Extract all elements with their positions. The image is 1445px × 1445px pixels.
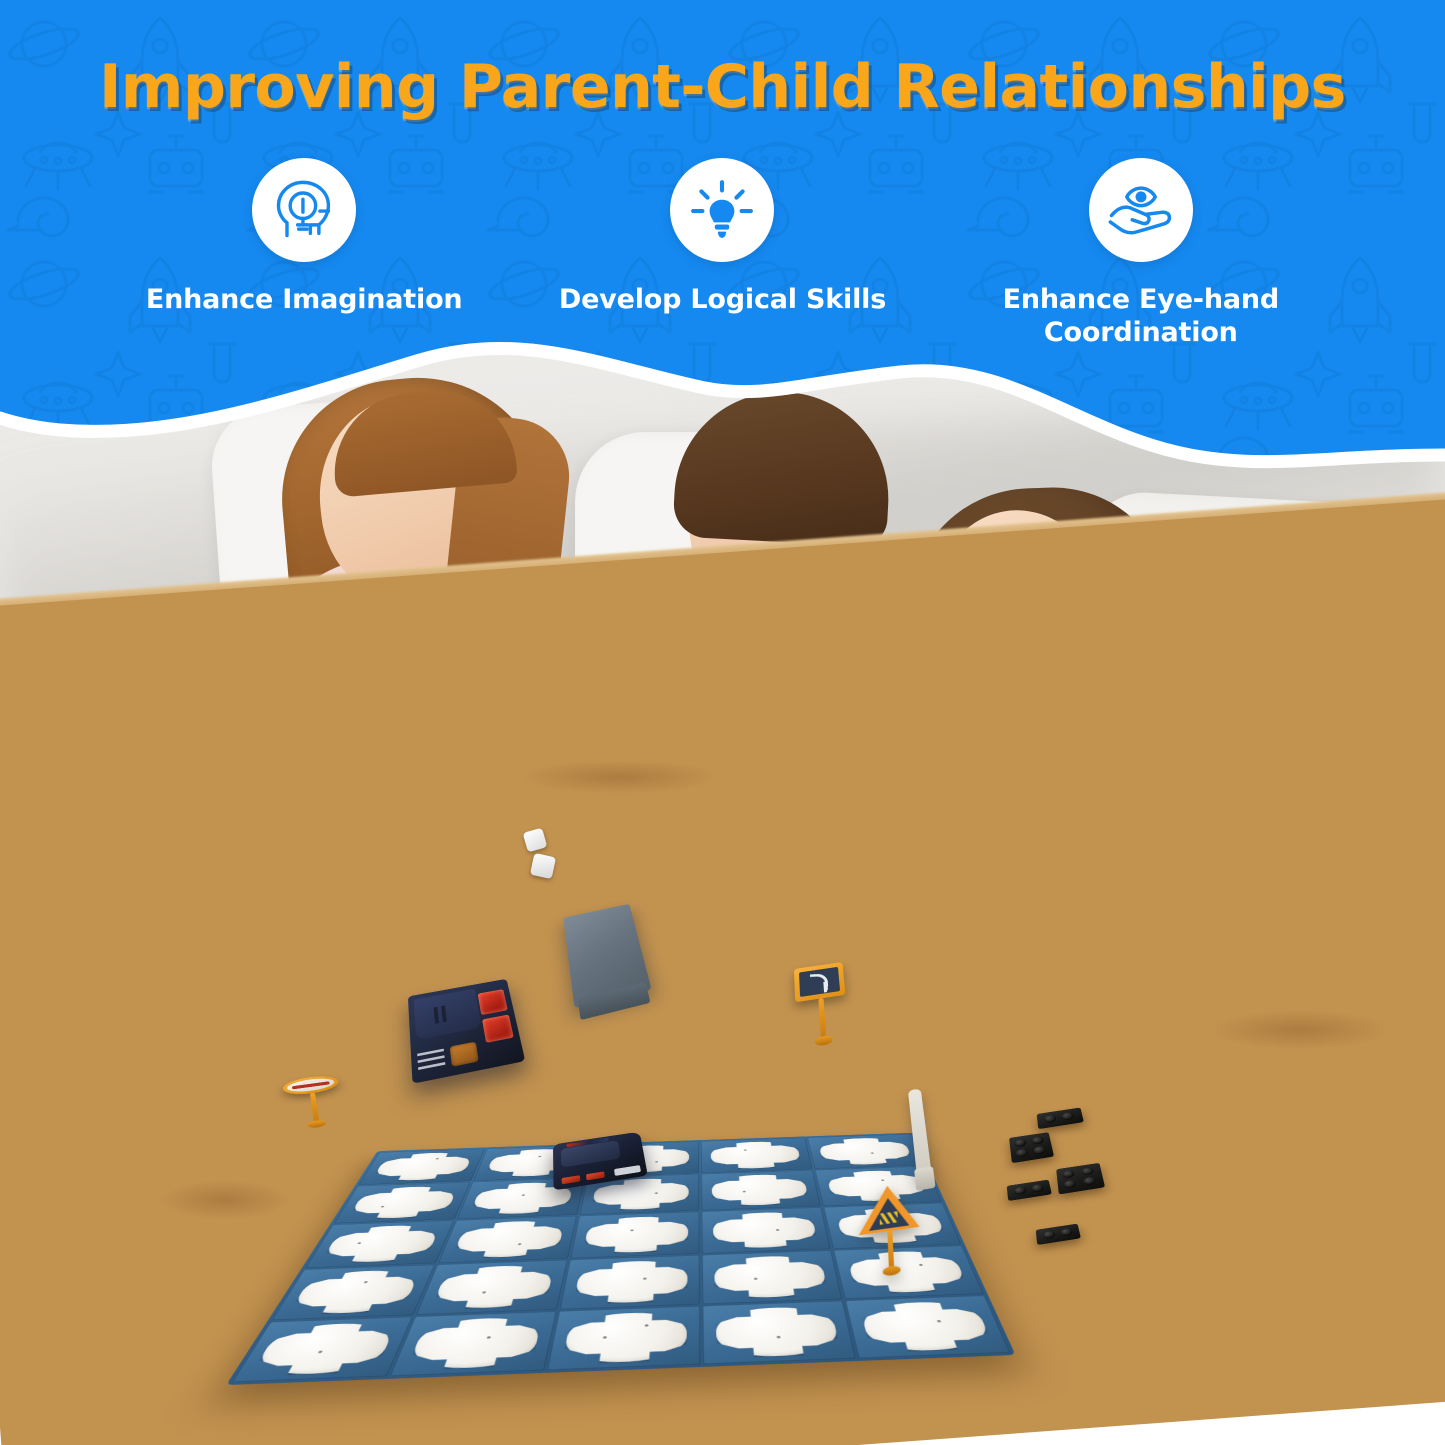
dice-piece (530, 853, 556, 879)
wood-knot (1210, 1010, 1390, 1050)
board-tile (807, 1134, 925, 1169)
board-tile (334, 1182, 471, 1223)
board-tile (570, 1212, 699, 1259)
warning-triangle-sign (858, 1182, 919, 1235)
board-tile (272, 1265, 435, 1320)
board-tile (833, 1246, 983, 1299)
board-tile (305, 1220, 454, 1268)
police-truck (408, 979, 525, 1084)
board-tile (701, 1138, 813, 1173)
feature-label: Enhance Imagination (146, 284, 463, 317)
ramp-piece (563, 904, 651, 1008)
no-entry-sign (283, 1074, 340, 1097)
feature-label: Enhance Eye-hand Coordination (1003, 284, 1279, 350)
lightbulb-rays-icon (670, 158, 774, 262)
board-tile (703, 1301, 856, 1364)
board-tile (232, 1317, 413, 1382)
board-tile (547, 1306, 700, 1370)
hand-eye-icon (1089, 158, 1193, 262)
board-tile (560, 1255, 700, 1309)
board-tile (702, 1207, 831, 1253)
board-tile (702, 1250, 842, 1304)
feature-list: Enhance Imagination (0, 158, 1445, 368)
page-title: Improving Parent-Child Relationships (0, 52, 1445, 122)
wood-knot (520, 760, 720, 794)
board-tile (416, 1260, 567, 1315)
board-tile (701, 1170, 821, 1210)
u-turn-sign (794, 962, 846, 1002)
game-board-area (216, 870, 1019, 1381)
board-tile (845, 1295, 1010, 1358)
feature-label: Develop Logical Skills (559, 284, 886, 317)
board-tile (438, 1216, 577, 1263)
feature-enhance-imagination: Enhance Imagination (139, 158, 469, 317)
feature-enhance-eye-hand-coordination: Enhance Eye-hand Coordination (976, 158, 1306, 350)
board-tile (358, 1149, 484, 1185)
feature-develop-logical-skills: Develop Logical Skills (557, 158, 887, 317)
board-tile (390, 1311, 557, 1376)
head-lightbulb-icon (252, 158, 356, 262)
product-banner: Improving Parent-Child Relationships (0, 0, 1445, 1445)
